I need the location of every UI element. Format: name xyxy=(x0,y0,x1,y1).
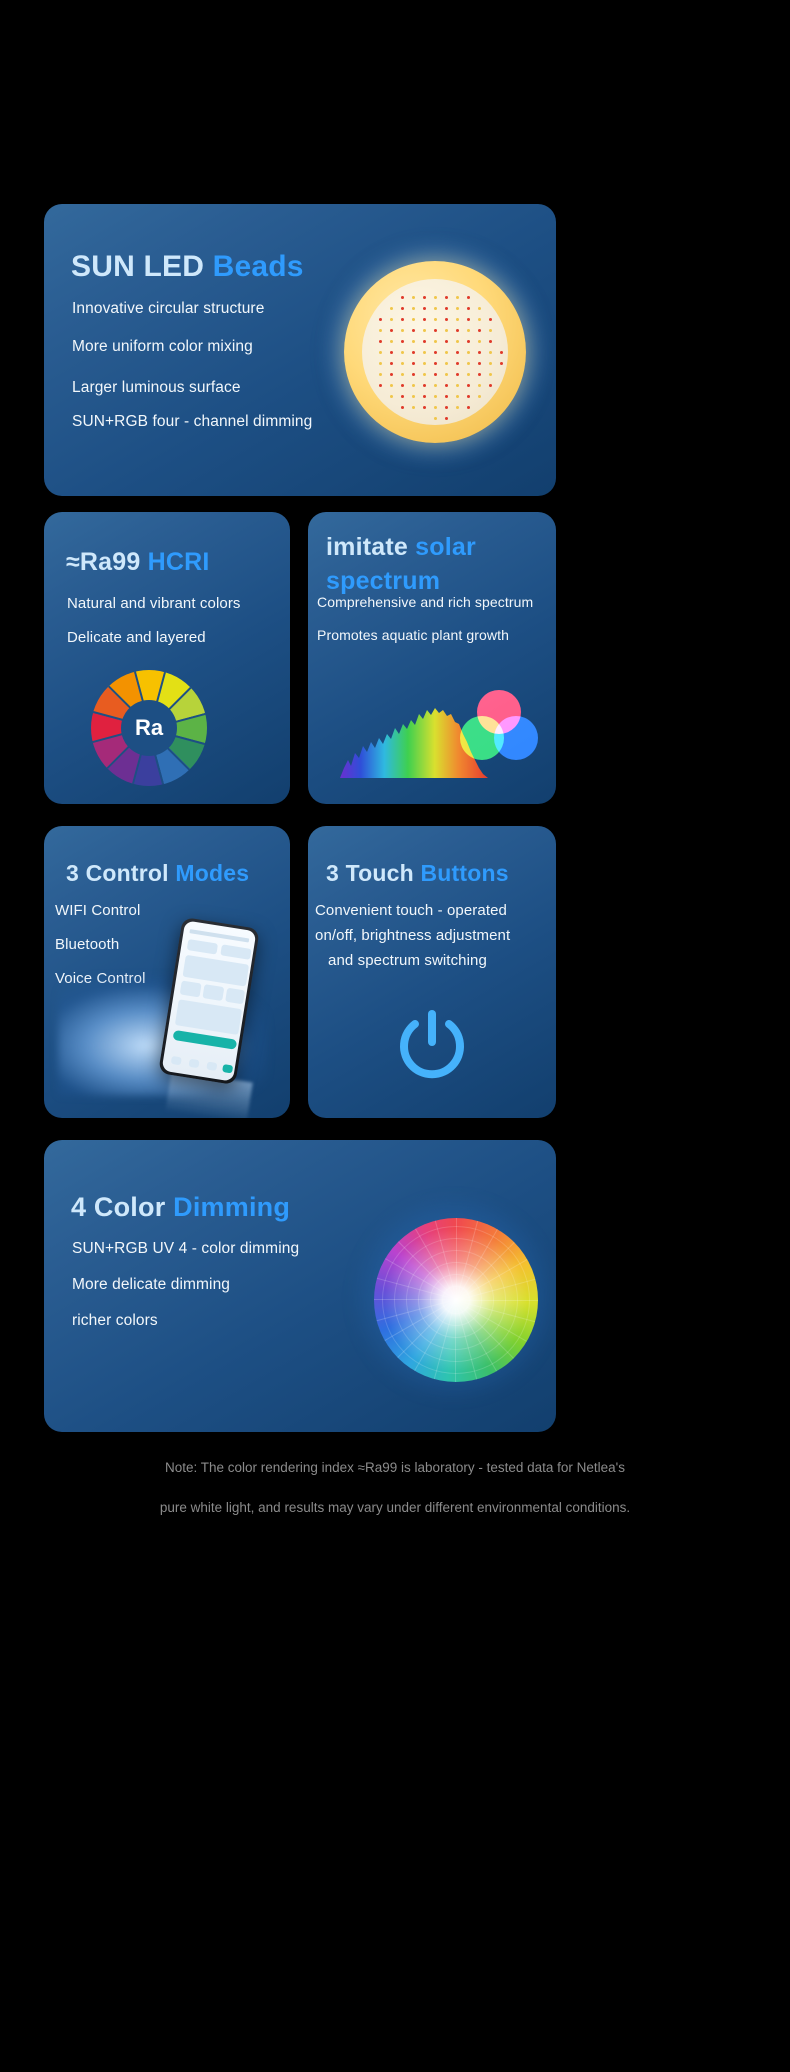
footer-line-1: Note: The color rendering index ≈Ra99 is… xyxy=(0,1448,790,1488)
led-bead-face xyxy=(362,279,508,425)
title-part-light: 3 Control xyxy=(66,860,175,886)
card-imitate-solar-spectrum: imitate solar spectrum Comprehensive and… xyxy=(308,512,556,804)
card-title-touch-buttons: 3 Touch Buttons xyxy=(326,860,509,887)
feature-line: richer colors xyxy=(72,1312,158,1330)
feature-line: SUN+RGB four - channel dimming xyxy=(72,413,312,431)
card-control-modes: 3 Control Modes WIFI Control Bluetooth V… xyxy=(44,826,290,1118)
feature-line: Bluetooth xyxy=(55,936,119,953)
rgb-overlap-circles-icon xyxy=(460,690,538,762)
ra-wheel-center: Ra xyxy=(121,700,177,756)
title-part-accent: Beads xyxy=(204,250,304,283)
card-color-dimming: 4 Color Dimming SUN+RGB UV 4 - color dim… xyxy=(44,1140,556,1432)
feature-line: Promotes aquatic plant growth xyxy=(317,627,509,643)
footer-line-2: pure white light, and results may vary u… xyxy=(0,1488,790,1528)
feature-line: SUN+RGB UV 4 - color dimming xyxy=(72,1240,299,1258)
feature-line: WIFI Control xyxy=(55,902,140,919)
power-button-icon xyxy=(395,1008,469,1082)
feature-line: on/off, brightness adjustment xyxy=(315,927,510,944)
ra-label: Ra xyxy=(135,715,163,741)
title-part-light: 3 Touch xyxy=(326,860,420,886)
title-part-light: imitate xyxy=(326,533,415,561)
card-sun-led-beads: SUN LED Beads Innovative circular struct… xyxy=(44,204,556,496)
title-part-accent: Buttons xyxy=(420,860,508,886)
rgb-circle-blue xyxy=(494,716,538,760)
card-ra99-hcri: ≈Ra99 HCRI Natural and vibrant colors De… xyxy=(44,512,290,804)
feature-line: More delicate dimming xyxy=(72,1276,230,1294)
feature-line: Convenient touch - operated xyxy=(315,902,507,919)
title-part-light: 4 Color xyxy=(71,1192,173,1222)
led-bead-circle-icon xyxy=(344,261,526,443)
dimming-wheel-grid xyxy=(374,1218,538,1382)
card-title-ra99-hcri: ≈Ra99 HCRI xyxy=(66,548,210,577)
title-part-accent: Modes xyxy=(175,860,249,886)
feature-line: Innovative circular structure xyxy=(72,300,264,318)
color-dimming-wheel-icon xyxy=(374,1218,538,1382)
feature-line: and spectrum switching xyxy=(328,952,487,969)
title-part-light: ≈Ra99 xyxy=(66,548,141,576)
card-title-color-dimming: 4 Color Dimming xyxy=(71,1192,290,1223)
title-part-light: SUN LED xyxy=(71,250,204,283)
feature-line: Comprehensive and rich spectrum xyxy=(317,594,533,610)
card-touch-buttons: 3 Touch Buttons Convenient touch - opera… xyxy=(308,826,556,1118)
title-part-accent: Dimming xyxy=(173,1192,290,1222)
feature-line: Natural and vibrant colors xyxy=(67,595,241,612)
card-title-imitate-solar-spectrum: imitate solar spectrum xyxy=(326,530,544,598)
product-infographic: SUN LED Beads Innovative circular struct… xyxy=(0,0,790,2072)
led-chip-dots xyxy=(362,279,508,425)
feature-line: More uniform color mixing xyxy=(72,338,253,356)
title-part-accent: HCRI xyxy=(141,548,210,576)
ra-color-wheel-icon: Ra xyxy=(91,670,207,786)
feature-line: Delicate and layered xyxy=(67,629,206,646)
footer-note: Note: The color rendering index ≈Ra99 is… xyxy=(0,1448,790,1528)
feature-line: Larger luminous surface xyxy=(72,379,241,397)
card-title-sun-led-beads: SUN LED Beads xyxy=(71,250,304,284)
card-title-control-modes: 3 Control Modes xyxy=(66,860,249,887)
